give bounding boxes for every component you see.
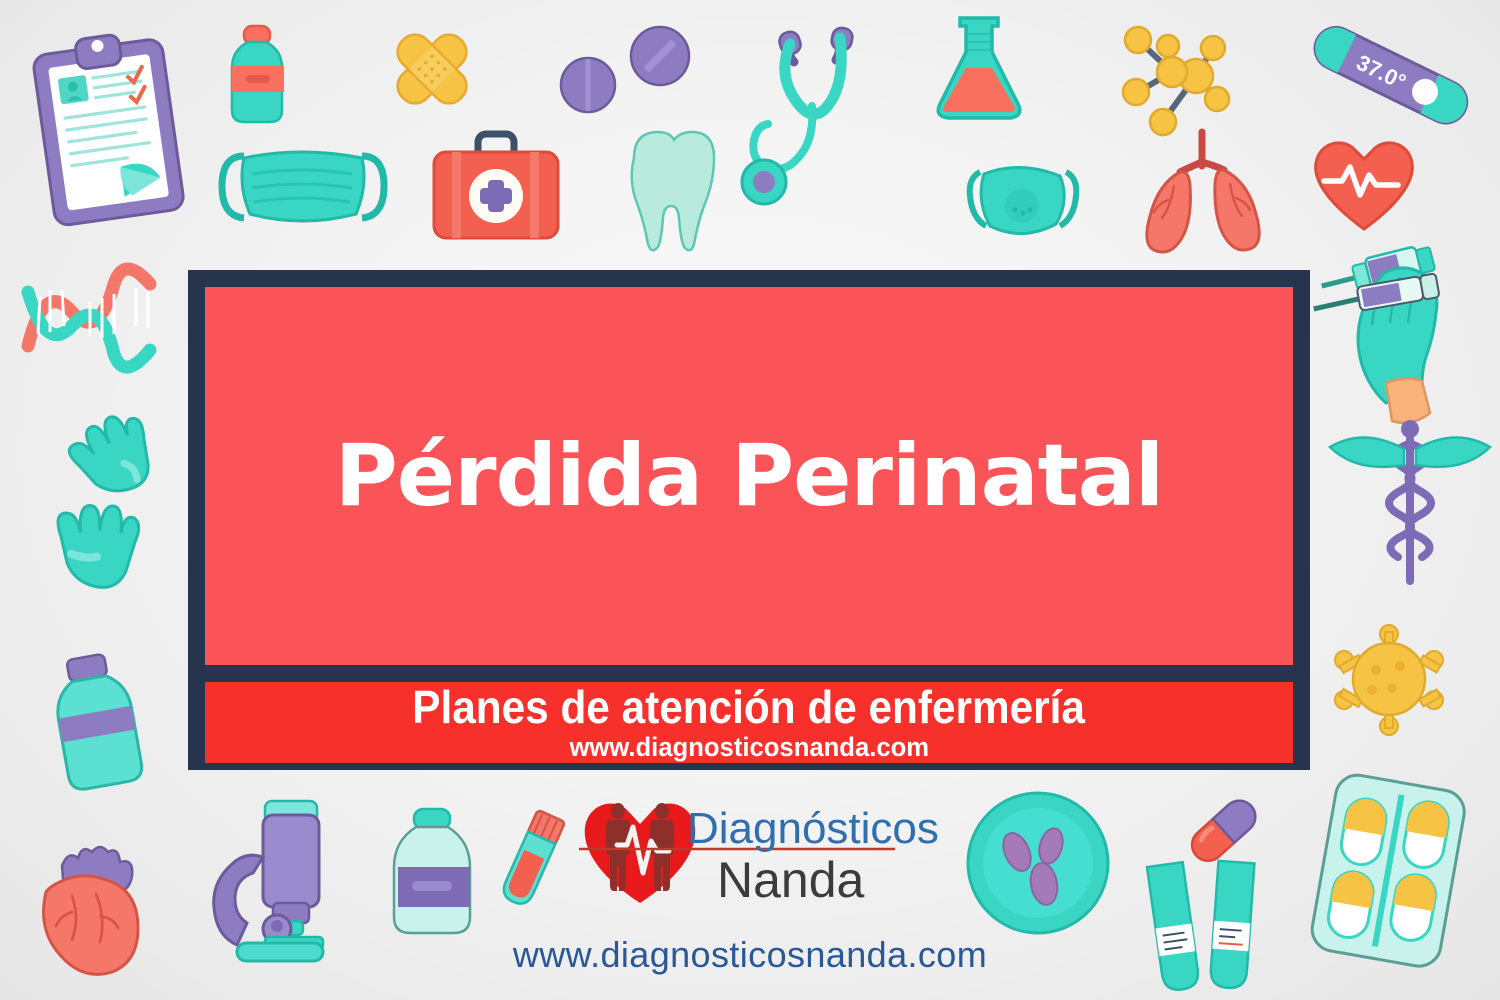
gloved-hand-syringe-icon xyxy=(1324,255,1484,430)
surgical-mask-icon xyxy=(210,140,396,240)
page-title: Pérdida Perinatal xyxy=(335,433,1163,519)
respirator-mask-icon xyxy=(958,160,1088,252)
adhesive-bandage-icon xyxy=(385,22,479,116)
glove-upper-icon xyxy=(62,420,162,512)
heart-ecg-icon xyxy=(1310,135,1418,233)
brand-logo[interactable]: Diagnósticos Nanda xyxy=(565,793,940,911)
poster-canvas: 37.0° xyxy=(0,0,1500,1000)
band-url-text: www.diagnosticosnanda.com xyxy=(569,733,929,763)
glove-lower-icon xyxy=(42,500,142,596)
pill-tablet-large-icon xyxy=(628,24,692,88)
thermometer-icon: 37.0° xyxy=(1302,18,1478,136)
vaccine-vial-icon xyxy=(380,805,484,945)
svg-text:37.0°: 37.0° xyxy=(1353,50,1410,95)
tooth-icon xyxy=(618,128,726,250)
capsule-pill-icon xyxy=(1178,785,1268,875)
blood-sample-tube-icon xyxy=(490,810,574,914)
logo-word-secondary: Nanda xyxy=(717,852,865,908)
petri-dish-icon xyxy=(965,790,1111,936)
pill-tablet-small-icon xyxy=(558,55,618,115)
stethoscope-icon xyxy=(740,20,874,240)
molecule-icon xyxy=(1120,14,1244,136)
test-tubes-icon xyxy=(1140,860,1270,1000)
water-bottle-icon xyxy=(42,650,152,800)
logo-word-primary: Diagnósticos xyxy=(687,804,939,853)
caduceus-icon xyxy=(1322,415,1497,595)
first-aid-kit-icon xyxy=(430,130,562,242)
lungs-icon xyxy=(1140,126,1268,254)
clipboard-icon xyxy=(35,28,185,228)
subtitle-text: Planes de atención de enfermería xyxy=(413,684,1086,731)
footer-url[interactable]: www.diagnosticosnanda.com xyxy=(0,934,1500,976)
virus-icon xyxy=(1330,620,1448,738)
hero-panel: Pérdida Perinatal xyxy=(205,287,1293,665)
subtitle-band: Planes de atención de enfermería www.dia… xyxy=(205,682,1293,763)
dna-helix-icon xyxy=(18,272,168,362)
title-card: Pérdida Perinatal Planes de atención de … xyxy=(188,270,1310,770)
erlenmeyer-flask-icon xyxy=(930,12,1028,124)
card-divider xyxy=(205,665,1293,682)
medicine-bottle-icon xyxy=(218,22,298,132)
syringe-icon xyxy=(1318,242,1438,302)
